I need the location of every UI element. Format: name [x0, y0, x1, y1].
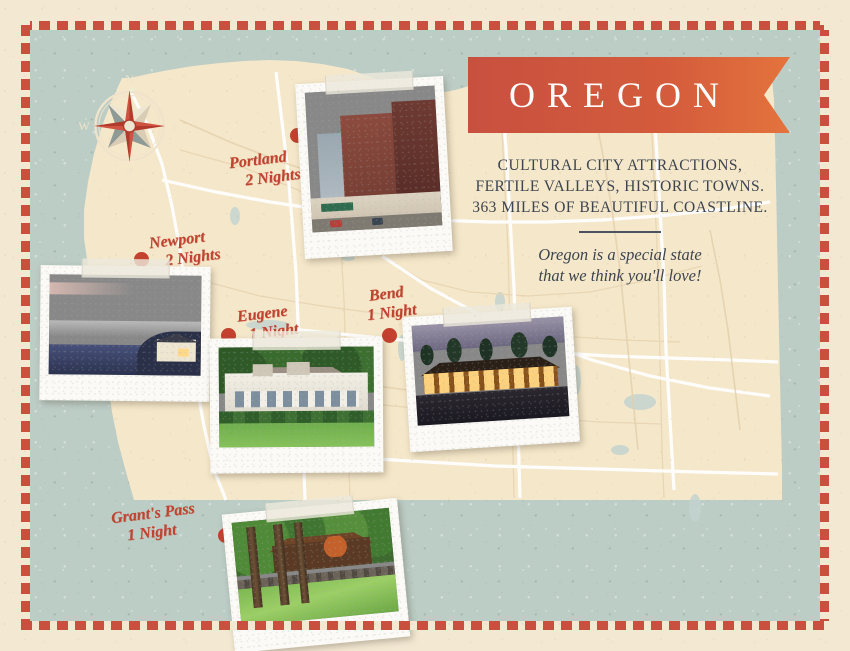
photo-image-eugene	[219, 346, 375, 447]
photo-image-bend	[411, 316, 569, 425]
divider-rule	[579, 231, 661, 233]
photo-tape	[82, 259, 170, 279]
headline-line-1: CULTURAL CITY ATTRACTIONS,	[455, 155, 785, 176]
photo-newport[interactable]	[39, 265, 210, 402]
tagline-line-1: Oregon is a special state	[455, 244, 785, 265]
compass-label-south: S	[126, 165, 133, 179]
poster-description: CULTURAL CITY ATTRACTIONS, FERTILE VALLE…	[455, 155, 785, 286]
tagline-line-2: that we think you'll love!	[455, 265, 785, 286]
compass-label-north: N	[125, 72, 134, 86]
photo-image-newport	[49, 274, 202, 376]
photo-image-portland	[305, 85, 443, 232]
map-dot-bend	[382, 328, 397, 343]
compass-rose: N E S W	[77, 70, 182, 182]
photo-bend[interactable]	[402, 307, 580, 452]
oregon-travel-poster: N E S W Portland 2 Nights Newport 2 Nigh…	[0, 0, 850, 651]
marker-label-grants-pass: Grant's Pass 1 Night	[110, 499, 198, 547]
banner-title: OREGON	[468, 57, 760, 133]
marker-label-portland: Portland 2 Nights	[228, 146, 302, 192]
photo-tape	[252, 331, 340, 351]
photo-portland[interactable]	[295, 76, 453, 259]
headline-line-2: FERTILE VALLEYS, HISTORIC TOWNS.	[455, 176, 785, 197]
compass-label-west: W	[78, 119, 90, 133]
photo-eugene[interactable]	[210, 337, 384, 473]
photo-grants-pass[interactable]	[222, 498, 411, 651]
headline-line-3: 363 MILES OF BEAUTIFUL COASTLINE.	[455, 197, 785, 218]
photo-image-grants-pass	[232, 508, 399, 627]
compass-label-east: E	[172, 119, 179, 133]
